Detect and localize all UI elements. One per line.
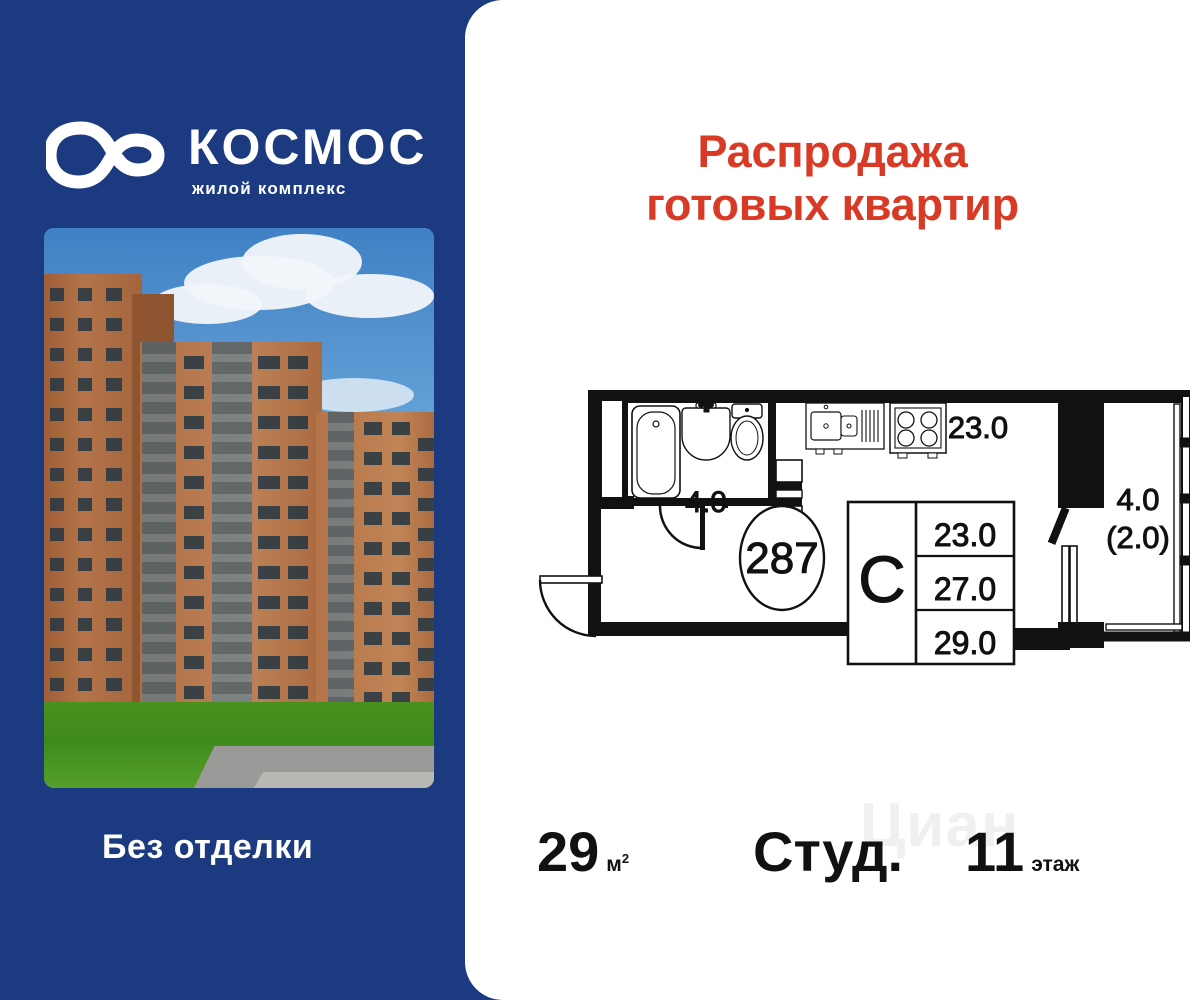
apartment-number-label: 287 bbox=[745, 534, 818, 583]
kitchen-sink-icon bbox=[806, 403, 884, 454]
listing-card: КОСМОС жилой комплекс bbox=[0, 0, 1200, 1000]
legend-row-2: 27.0 bbox=[934, 571, 996, 607]
window-column bbox=[258, 356, 280, 708]
road-marking bbox=[254, 772, 434, 788]
toilet-icon bbox=[731, 404, 763, 460]
window-column bbox=[50, 288, 64, 708]
window-column bbox=[78, 288, 92, 708]
balcony-glazing bbox=[142, 342, 176, 714]
infinity-icon bbox=[46, 120, 172, 190]
floor-value: 11 bbox=[965, 824, 1024, 880]
balcony-area-reduced-label: (2.0) bbox=[1106, 520, 1170, 555]
window-column bbox=[288, 356, 308, 708]
area-summary: 29 м2 bbox=[537, 824, 629, 880]
balcony-area-label: 4.0 bbox=[1116, 482, 1159, 517]
floor-unit: этаж bbox=[1031, 853, 1079, 877]
building-photo bbox=[44, 228, 434, 788]
bathroom-area-label: 4.0 bbox=[685, 486, 727, 519]
window-column bbox=[418, 438, 434, 708]
window-column bbox=[106, 288, 122, 708]
brand-logo: КОСМОС жилой комплекс bbox=[46, 118, 446, 210]
floor-summary: 11 этаж bbox=[965, 824, 1079, 880]
brand-sidebar: КОСМОС жилой комплекс bbox=[0, 0, 470, 1000]
balcony-glazing-icon bbox=[1104, 396, 1190, 641]
legend-type-letter: С bbox=[858, 542, 906, 616]
window-column bbox=[392, 422, 410, 708]
legend-row-1: 23.0 bbox=[934, 517, 996, 553]
living-area-label: 23.0 bbox=[948, 410, 1008, 445]
summary-row: 29 м2 Студ. 11 этаж bbox=[465, 800, 1200, 910]
area-value: 29 bbox=[537, 824, 599, 880]
promo-headline: Распродажа готовых квартир bbox=[465, 126, 1200, 231]
finish-caption: Без отделки bbox=[102, 828, 313, 867]
type-value: Студ. bbox=[753, 824, 903, 880]
floor-plan[interactable]: 4.0 bbox=[510, 360, 1190, 680]
bathtub-icon bbox=[632, 406, 680, 498]
legend-row-3: 29.0 bbox=[934, 625, 996, 661]
content-card: Распродажа готовых квартир bbox=[465, 0, 1200, 1000]
legend-table: С 23.0 27.0 29.0 bbox=[848, 502, 1014, 664]
headline-line-2: готовых квартир bbox=[465, 179, 1200, 232]
type-summary: Студ. bbox=[753, 824, 903, 880]
window-column bbox=[184, 356, 204, 708]
sink-icon bbox=[682, 403, 730, 460]
balcony-glazing bbox=[328, 412, 354, 714]
window-column bbox=[364, 422, 382, 708]
brand-name: КОСМОС bbox=[188, 122, 428, 172]
area-unit: м2 bbox=[606, 851, 629, 877]
cloud-shape bbox=[306, 274, 434, 318]
brand-tagline: жилой комплекс bbox=[192, 180, 347, 197]
stove-icon bbox=[890, 403, 946, 458]
balcony-door-icon bbox=[1048, 507, 1077, 632]
balcony-glazing bbox=[212, 342, 252, 714]
headline-line-1: Распродажа bbox=[465, 126, 1200, 179]
